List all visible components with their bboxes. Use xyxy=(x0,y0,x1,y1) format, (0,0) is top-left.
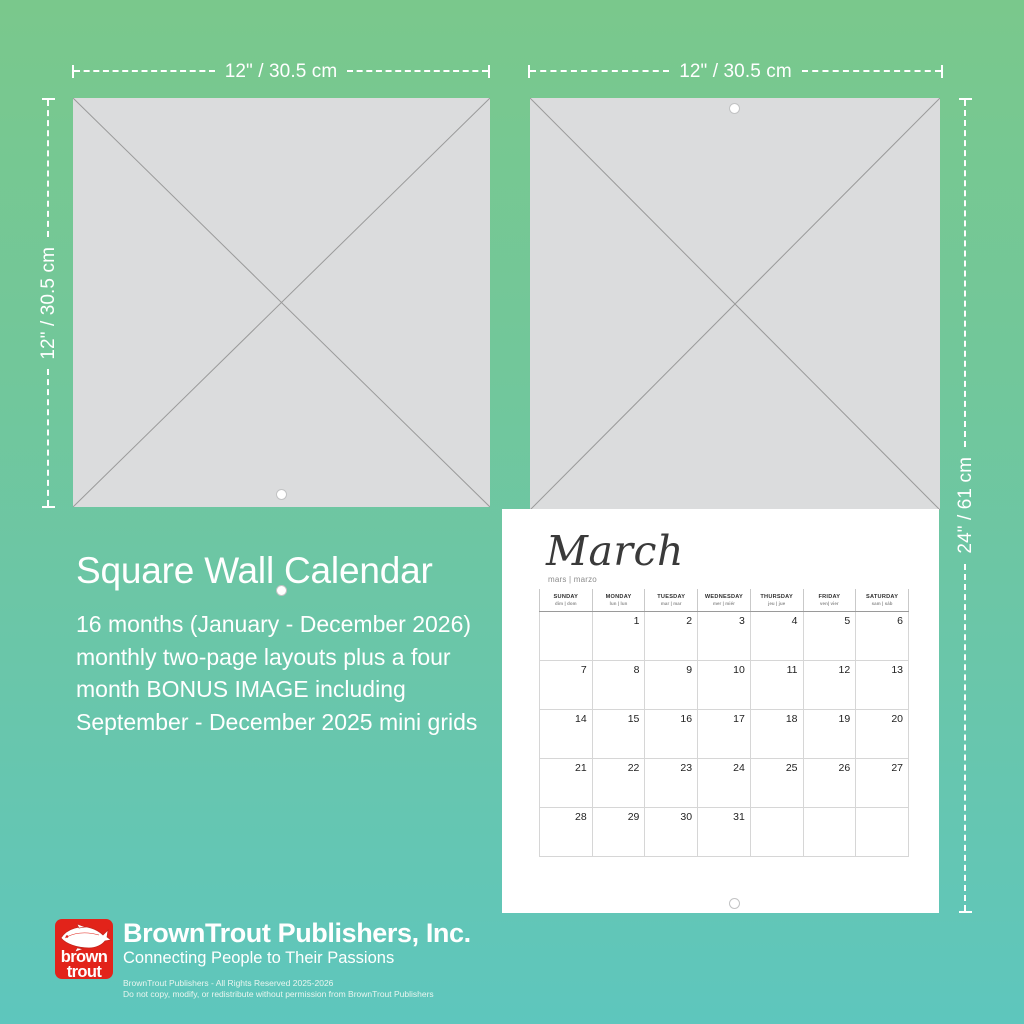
brand-text-block: BrownTrout Publishers, Inc. Connecting P… xyxy=(123,919,471,1001)
calendar-day-cell[interactable] xyxy=(856,808,909,857)
dimension-cap-right xyxy=(941,65,943,78)
dimension-right-vertical: 24" / 61 cm xyxy=(958,98,972,913)
dimension-dash-right xyxy=(347,70,488,72)
browntrout-logo-wordmark: brown trout xyxy=(55,950,113,979)
legal-line-1: BrownTrout Publishers - All Rights Reser… xyxy=(123,978,471,989)
calendar-day-cell[interactable]: 22 xyxy=(592,759,645,808)
calendar-header-monday: MONDAY lun | lun xyxy=(592,589,645,612)
dimension-top-left: 12" / 30.5 cm xyxy=(72,64,490,78)
company-tagline: Connecting People to Their Passions xyxy=(123,948,471,969)
calendar-image-placeholder xyxy=(530,98,940,510)
calendar-day-cell[interactable]: 8 xyxy=(592,661,645,710)
dimension-dash-left xyxy=(74,70,215,72)
calendar-day-cell[interactable]: 21 xyxy=(540,759,593,808)
dimension-dash-top xyxy=(964,100,966,447)
browntrout-logo[interactable]: brown trout xyxy=(55,919,113,979)
calendar-day-cell[interactable]: 28 xyxy=(540,808,593,857)
weekday-name: WEDNESDAY xyxy=(698,594,750,601)
dimension-left-vertical-label: 12" / 30.5 cm xyxy=(39,237,58,370)
calendar-day-cell[interactable]: 27 xyxy=(856,759,909,808)
calendar-day-cell[interactable] xyxy=(540,612,593,661)
description-line: month BONUS IMAGE including xyxy=(76,673,546,706)
weekday-name: TUESDAY xyxy=(645,594,697,601)
hole-punch-calendar-bottom xyxy=(729,898,740,909)
weekday-sub: mer | miér xyxy=(698,601,750,606)
calendar-day-cell[interactable] xyxy=(803,808,856,857)
description-line: monthly two-page layouts plus a four xyxy=(76,641,546,674)
calendar-day-cell[interactable]: 18 xyxy=(750,710,803,759)
calendar-day-cell[interactable]: 12 xyxy=(803,661,856,710)
calendar-day-cell[interactable]: 13 xyxy=(856,661,909,710)
dimension-right-vertical-label: 24" / 61 cm xyxy=(956,447,975,564)
calendar-day-cell[interactable]: 14 xyxy=(540,710,593,759)
weekday-sub: jeu | jue xyxy=(751,601,803,606)
weekday-sub: lun | lun xyxy=(593,601,645,606)
calendar-header-row: SUNDAY dim | dom MONDAY lun | lun TUESDA… xyxy=(540,589,909,612)
legal-notice: BrownTrout Publishers - All Rights Reser… xyxy=(123,978,471,1001)
hole-punch-right-panel-top xyxy=(729,103,740,114)
calendar-day-cell[interactable]: 20 xyxy=(856,710,909,759)
calendar-week-row: 21 22 23 24 25 26 27 xyxy=(540,759,909,808)
calendar-day-cell[interactable]: 26 xyxy=(803,759,856,808)
dimension-dash-left xyxy=(530,70,669,72)
calendar-day-cell[interactable]: 1 xyxy=(592,612,645,661)
calendar-header-tuesday: TUESDAY mar | mar xyxy=(645,589,698,612)
dimension-dash-right xyxy=(802,70,941,72)
calendar-day-cell[interactable]: 6 xyxy=(856,612,909,661)
calendar-header-sunday: SUNDAY dim | dom xyxy=(540,589,593,612)
weekday-sub: ven| vier xyxy=(804,601,856,606)
calendar-day-cell[interactable]: 10 xyxy=(698,661,751,710)
weekday-name: FRIDAY xyxy=(804,594,856,601)
calendar-week-row: 1 2 3 4 5 6 xyxy=(540,612,909,661)
hole-punch-left-panel xyxy=(276,489,287,500)
calendar-grid: SUNDAY dim | dom MONDAY lun | lun TUESDA… xyxy=(539,589,909,857)
calendar-header-friday: FRIDAY ven| vier xyxy=(803,589,856,612)
weekday-name: MONDAY xyxy=(593,594,645,601)
placeholder-cross-icon xyxy=(73,98,490,507)
weekday-name: THURSDAY xyxy=(751,594,803,601)
weekday-sub: mar | mar xyxy=(645,601,697,606)
calendar-cover-placeholder xyxy=(73,98,490,507)
weekday-name: SATURDAY xyxy=(856,594,908,601)
calendar-day-cell[interactable] xyxy=(750,808,803,857)
dimension-top-right-label: 12" / 30.5 cm xyxy=(669,62,802,81)
calendar-day-cell[interactable]: 7 xyxy=(540,661,593,710)
calendar-day-cell[interactable]: 9 xyxy=(645,661,698,710)
dimension-dash-bottom xyxy=(47,369,49,506)
dimension-dash-top xyxy=(47,100,49,237)
calendar-day-cell[interactable]: 16 xyxy=(645,710,698,759)
description-line: September - December 2025 mini grids xyxy=(76,706,546,739)
calendar-day-cell[interactable]: 23 xyxy=(645,759,698,808)
calendar-day-cell[interactable]: 3 xyxy=(698,612,751,661)
dimension-cap-right xyxy=(488,65,490,78)
calendar-month-subtitle: mars | marzo xyxy=(548,575,597,584)
weekday-name: SUNDAY xyxy=(540,594,592,601)
calendar-day-cell[interactable]: 4 xyxy=(750,612,803,661)
logo-word-trout: trout xyxy=(55,965,113,979)
calendar-day-cell[interactable]: 19 xyxy=(803,710,856,759)
calendar-day-cell[interactable]: 25 xyxy=(750,759,803,808)
calendar-day-cell[interactable]: 5 xyxy=(803,612,856,661)
calendar-day-cell[interactable]: 24 xyxy=(698,759,751,808)
dimension-left-vertical: 12" / 30.5 cm xyxy=(41,98,55,508)
calendar-day-cell[interactable]: 29 xyxy=(592,808,645,857)
calendar-grid-page: March mars | marzo SUNDAY dim | dom MOND… xyxy=(502,509,939,913)
calendar-header-thursday: THURSDAY jeu | jue xyxy=(750,589,803,612)
description-line: 16 months (January - December 2026) xyxy=(76,608,546,641)
dimension-cap-bottom xyxy=(959,911,972,913)
placeholder-cross-icon xyxy=(530,98,940,510)
calendar-table: SUNDAY dim | dom MONDAY lun | lun TUESDA… xyxy=(539,589,909,857)
dimension-top-right: 12" / 30.5 cm xyxy=(528,64,943,78)
calendar-day-cell[interactable]: 2 xyxy=(645,612,698,661)
calendar-week-row: 14 15 16 17 18 19 20 xyxy=(540,710,909,759)
calendar-day-cell[interactable]: 31 xyxy=(698,808,751,857)
dimension-top-left-label: 12" / 30.5 cm xyxy=(215,62,348,81)
weekday-sub: dim | dom xyxy=(540,601,592,606)
company-name: BrownTrout Publishers, Inc. xyxy=(123,919,471,947)
legal-line-2: Do not copy, modify, or redistribute wit… xyxy=(123,989,471,1000)
calendar-week-row: 7 8 9 10 11 12 13 xyxy=(540,661,909,710)
calendar-day-cell[interactable]: 30 xyxy=(645,808,698,857)
dimension-cap-bottom xyxy=(42,506,55,508)
calendar-header-saturday: SATURDAY sam | sáb xyxy=(856,589,909,612)
calendar-header-wednesday: WEDNESDAY mer | miér xyxy=(698,589,751,612)
calendar-day-cell[interactable]: 11 xyxy=(750,661,803,710)
page-title: Square Wall Calendar xyxy=(76,551,433,591)
dimension-dash-bottom xyxy=(964,564,966,911)
calendar-month-title: March xyxy=(546,531,684,572)
calendar-day-cell[interactable]: 17 xyxy=(698,710,751,759)
calendar-week-row: 28 29 30 31 xyxy=(540,808,909,857)
weekday-sub: sam | sáb xyxy=(856,601,908,606)
product-description: 16 months (January - December 2026) mont… xyxy=(76,608,546,739)
calendar-day-cell[interactable]: 15 xyxy=(592,710,645,759)
